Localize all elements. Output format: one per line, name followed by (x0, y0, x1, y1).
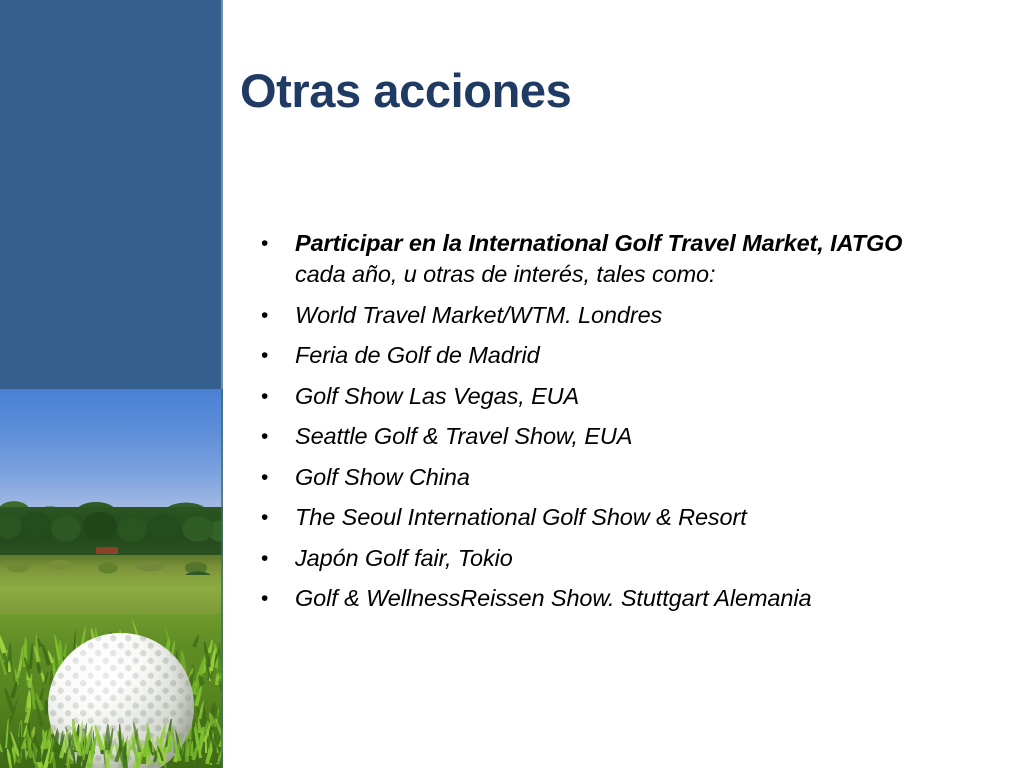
grass-blade (0, 721, 3, 752)
list-item-text: Japón Golf fair, Tokio (295, 545, 513, 571)
grass-blade (39, 687, 45, 700)
building-roof (96, 547, 118, 554)
list-item-text: The Seoul International Golf Show & Reso… (295, 504, 747, 530)
bullet-marker: • (255, 381, 295, 412)
list-item-label: Feria de Golf de Madrid (295, 340, 955, 371)
bullet-list: •Participar en la International Golf Tra… (255, 228, 955, 624)
list-item-text: Seattle Golf & Travel Show, EUA (295, 423, 632, 449)
grass-blade (118, 724, 122, 752)
sidebar-panel-edge (221, 0, 223, 389)
grass-blade (192, 634, 201, 648)
list-item-text: Golf Show Las Vegas, EUA (295, 383, 579, 409)
list-item: •Feria de Golf de Madrid (255, 340, 955, 371)
list-item: •World Travel Market/WTM. Londres (255, 300, 955, 331)
list-item-label: Golf Show China (295, 462, 955, 493)
grass-blade (164, 627, 171, 646)
list-item-text: World Travel Market/WTM. Londres (295, 302, 662, 328)
list-item-label: Japón Golf fair, Tokio (295, 543, 955, 574)
grass-blade (0, 631, 7, 653)
list-item: •Seattle Golf & Travel Show, EUA (255, 421, 955, 452)
list-item-text: cada año, u otras de interés, tales como… (295, 261, 715, 287)
bullet-marker: • (255, 228, 295, 259)
list-item: •Golf Show China (255, 462, 955, 493)
grass-blade (105, 724, 110, 750)
bullet-marker: • (255, 421, 295, 452)
list-item-label: Golf & WellnessReissen Show. Stuttgart A… (295, 583, 955, 614)
presentation-slide: Otras acciones •Participar en la Interna… (0, 0, 1024, 768)
grass-blade (5, 719, 10, 749)
list-item-label: Participar en la International Golf Trav… (295, 228, 955, 290)
grass-blade (27, 690, 32, 708)
list-item-text: Golf & WellnessReissen Show. Stuttgart A… (295, 585, 811, 611)
list-item: •Golf & WellnessReissen Show. Stuttgart … (255, 583, 955, 614)
grass-blade (185, 735, 189, 762)
slide-sidebar (0, 0, 223, 768)
bullet-marker: • (255, 502, 295, 533)
list-item-emphasis: Participar en la International Golf Trav… (295, 230, 902, 256)
bullet-marker: • (255, 340, 295, 371)
list-item-label: Seattle Golf & Travel Show, EUA (295, 421, 955, 452)
bullet-marker: • (255, 543, 295, 574)
bullet-marker: • (255, 300, 295, 331)
list-item: •Participar en la International Golf Tra… (255, 228, 955, 290)
list-item-label: The Seoul International Golf Show & Reso… (295, 502, 955, 533)
photo-right-border (221, 389, 223, 768)
bullet-marker: • (255, 462, 295, 493)
golf-ball-on-fairway-photo (0, 389, 223, 768)
list-item: •Golf Show Las Vegas, EUA (255, 381, 955, 412)
list-item-label: World Travel Market/WTM. Londres (295, 300, 955, 331)
list-item: •Japón Golf fair, Tokio (255, 543, 955, 574)
list-item-label: Golf Show Las Vegas, EUA (295, 381, 955, 412)
grass-blade (35, 662, 41, 674)
grass-blade (196, 750, 199, 767)
list-item: •The Seoul International Golf Show & Res… (255, 502, 955, 533)
page-title: Otras acciones (240, 64, 940, 118)
list-item-text: Feria de Golf de Madrid (295, 342, 540, 368)
foreground-grass-blades (0, 719, 223, 768)
bullet-marker: • (255, 583, 295, 614)
sidebar-blue-panel (0, 0, 223, 389)
list-item-text: Golf Show China (295, 464, 470, 490)
